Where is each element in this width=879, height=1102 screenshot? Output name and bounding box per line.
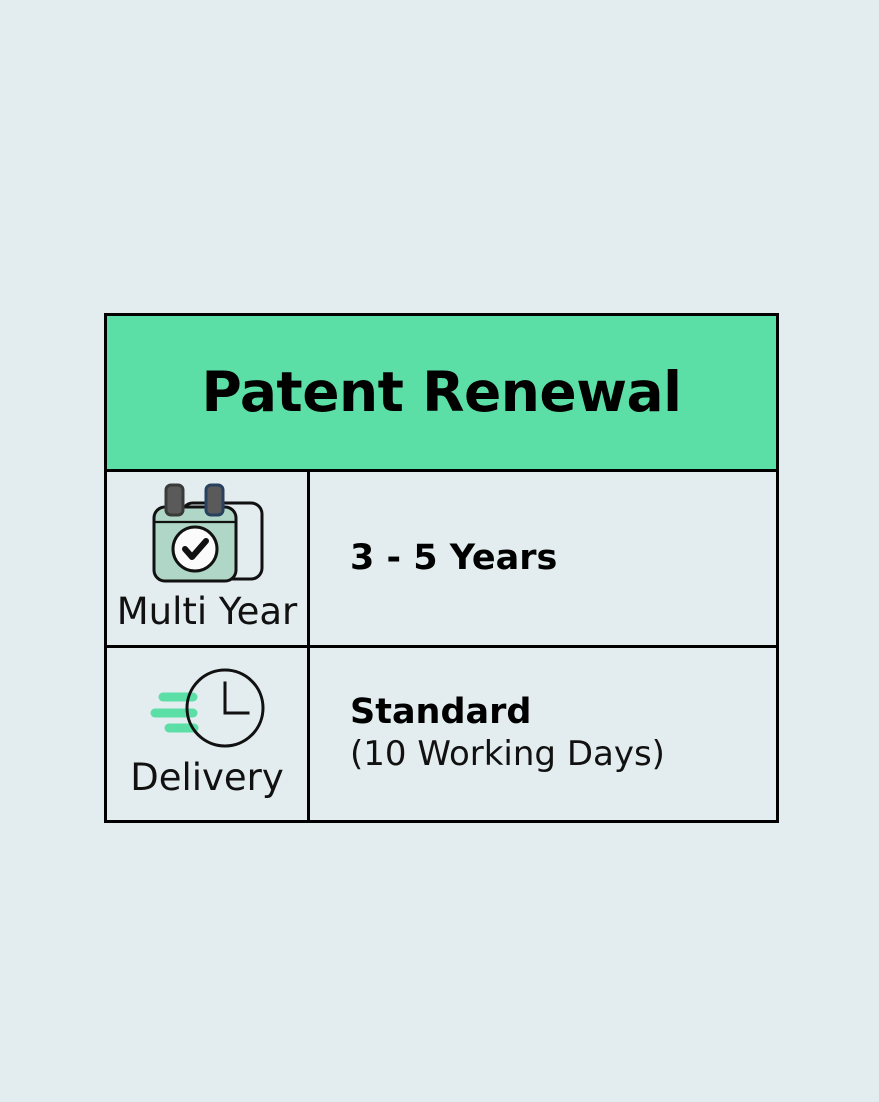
- page-title: Patent Renewal: [201, 365, 681, 420]
- row-icon-cell-delivery: Delivery: [107, 648, 310, 821]
- row-value-sub: (10 Working Days): [350, 734, 776, 775]
- row-value-main: Standard: [350, 692, 776, 732]
- row-icon-cell-multi-year: Multi Year: [107, 472, 310, 645]
- clock-speed-icon: [149, 665, 265, 755]
- row-value-main: 3 - 5 Years: [350, 538, 776, 578]
- row-value-cell-multi-year: 3 - 5 Years: [310, 472, 776, 645]
- table-row: Delivery Standard (10 Working Days): [107, 645, 776, 821]
- row-value-cell-delivery: Standard (10 Working Days): [310, 648, 776, 821]
- table-row: Multi Year 3 - 5 Years: [107, 472, 776, 645]
- card-header: Patent Renewal: [107, 316, 776, 472]
- row-icon-label: Multi Year: [117, 593, 298, 632]
- patent-renewal-card: Patent Renewal: [104, 313, 779, 823]
- row-icon-label: Delivery: [130, 759, 284, 798]
- calendar-check-icon: [148, 481, 266, 589]
